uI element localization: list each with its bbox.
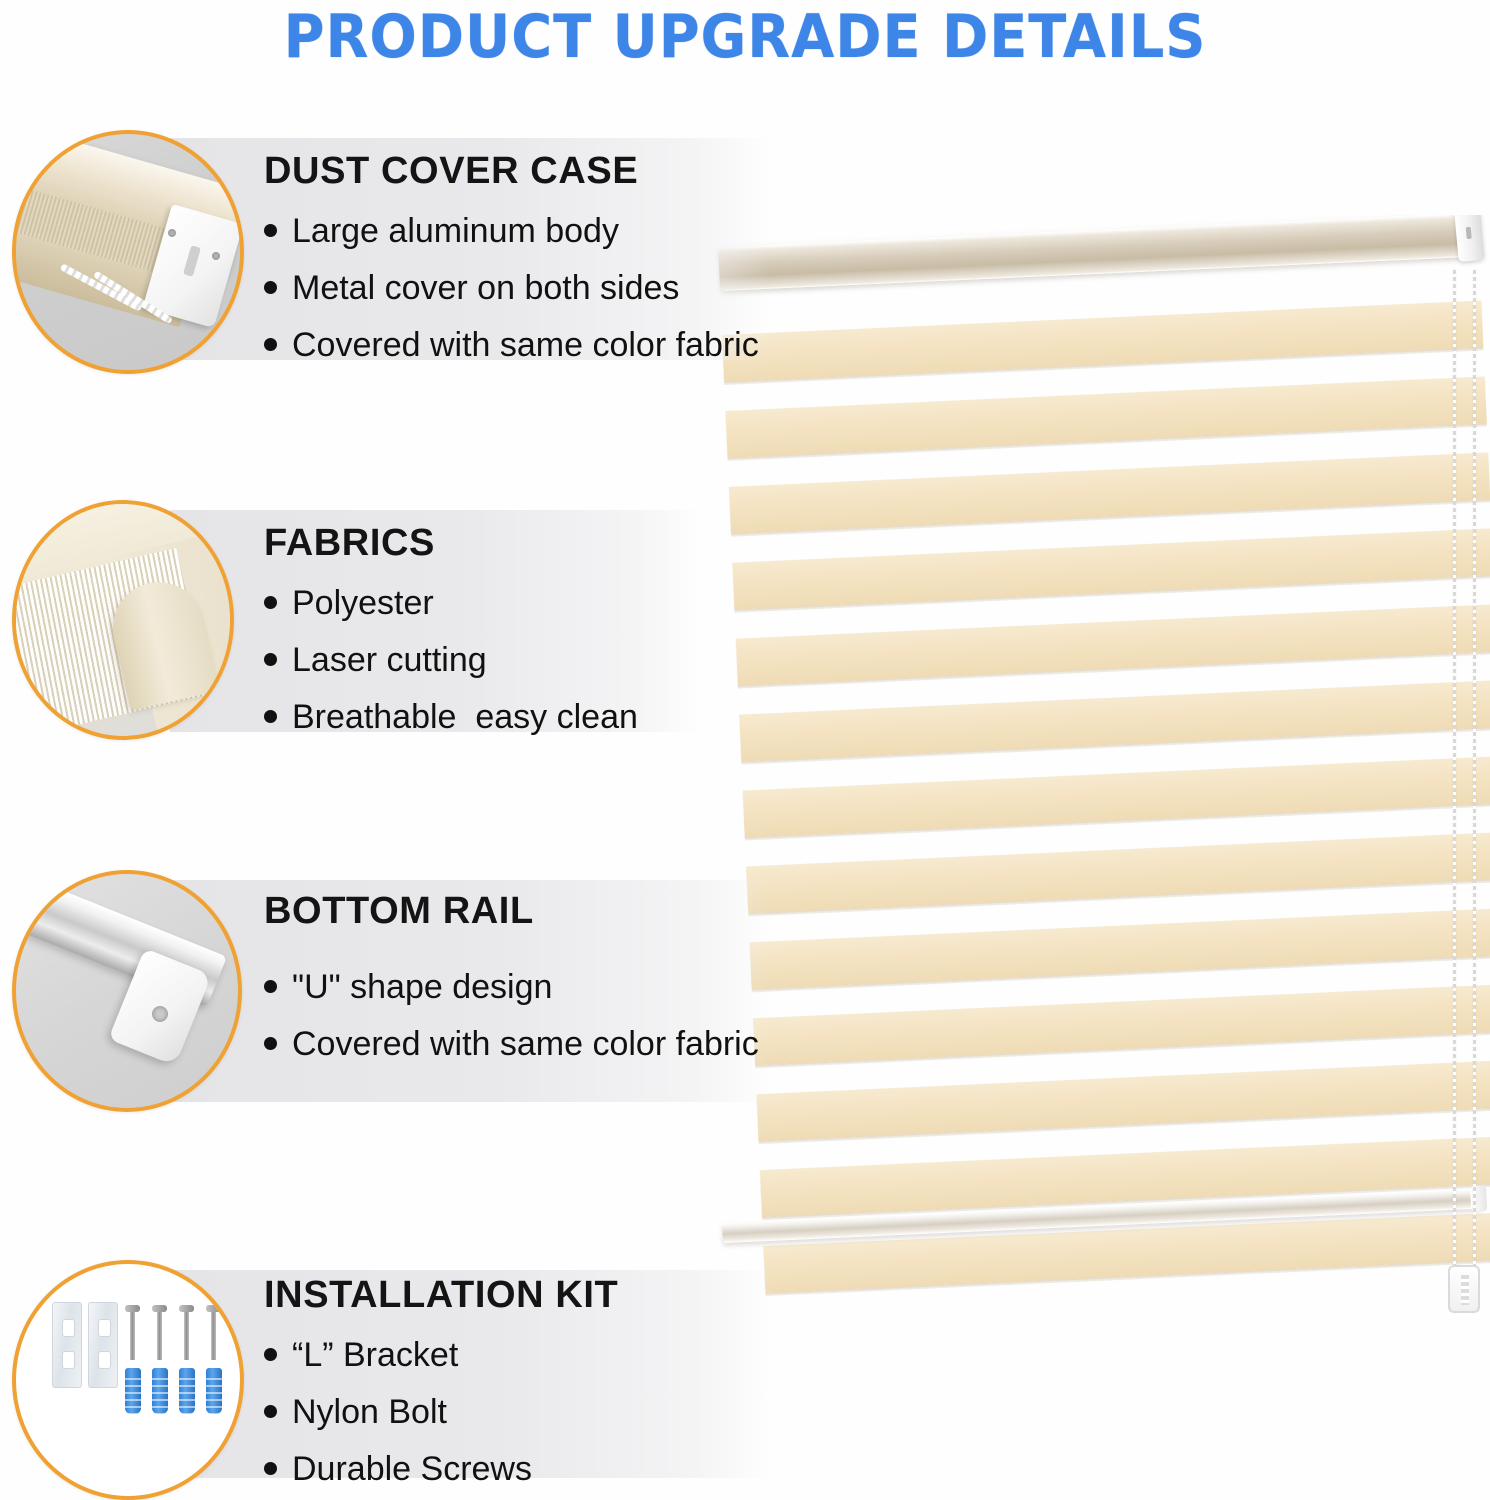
bead-chain-connector xyxy=(1448,1265,1480,1313)
blind-top-rail xyxy=(718,215,1479,291)
fabric-stripe xyxy=(756,1060,1490,1141)
feature-block-installation-kit: INSTALLATION KIT “L” Bracket Nylon Bolt … xyxy=(0,1258,790,1500)
blind-fabric-stripes xyxy=(722,301,1490,1335)
feature-bullet-list: Large aluminum body Metal cover on both … xyxy=(264,207,764,370)
fabric-stripe xyxy=(725,376,1486,457)
list-item: Polyester xyxy=(264,579,694,628)
bullet-icon xyxy=(264,1405,277,1418)
bullet-text: Large aluminum body xyxy=(292,207,619,256)
list-item: Durable Screws xyxy=(264,1445,764,1494)
bullet-text: “L” Bracket xyxy=(292,1331,458,1380)
feature-bullet-list: Polyester Laser cutting Breathable easy … xyxy=(264,579,694,742)
bullet-icon xyxy=(264,980,277,993)
fabric-stripe xyxy=(753,984,1490,1065)
bead-chain-left-strand xyxy=(1453,270,1456,1290)
list-item: "U" shape design xyxy=(264,963,764,1012)
wall-anchor-icon xyxy=(179,1368,195,1414)
bullet-icon xyxy=(264,596,277,609)
feature-title: INSTALLATION KIT xyxy=(264,1274,764,1317)
l-bracket-icon xyxy=(88,1302,118,1388)
bullet-icon xyxy=(264,224,277,237)
bullet-text: Metal cover on both sides xyxy=(292,264,679,313)
bullet-icon xyxy=(264,1348,277,1361)
feature-bullet-list: “L” Bracket Nylon Bolt Durable Screws xyxy=(264,1331,764,1494)
wall-anchor-icon xyxy=(152,1368,168,1414)
fabric-stripe xyxy=(722,301,1483,382)
l-bracket-icon xyxy=(52,1302,82,1388)
list-item: Laser cutting xyxy=(264,636,694,685)
installation-kit-photo xyxy=(12,1260,244,1500)
list-item: Covered with same color fabric xyxy=(264,321,764,370)
wall-anchor-icon xyxy=(125,1368,141,1414)
list-item: Metal cover on both sides xyxy=(264,264,764,313)
wall-anchor-icon xyxy=(206,1368,222,1414)
list-item: Covered with same color fabric xyxy=(264,1020,764,1069)
fabric-stripe xyxy=(750,908,1490,989)
fabric-stripe xyxy=(736,604,1490,685)
bullet-icon xyxy=(264,653,277,666)
bullet-text: Nylon Bolt xyxy=(292,1388,447,1437)
fabric-stripe xyxy=(739,680,1490,761)
bullet-icon xyxy=(264,1462,277,1475)
feature-block-fabrics: FABRICS Polyester Laser cutting Breathab… xyxy=(0,492,710,742)
bullet-text: Covered with same color fabric xyxy=(292,321,759,370)
page-title: PRODUCT UPGRADE DETAILS xyxy=(52,2,1438,72)
feature-block-dust-cover-case: DUST COVER CASE Large aluminum body Meta… xyxy=(0,120,790,370)
list-item: Nylon Bolt xyxy=(264,1388,764,1437)
fabrics-photo xyxy=(12,500,234,740)
bullet-icon xyxy=(264,281,277,294)
bullet-text: Breathable easy clean xyxy=(292,693,638,742)
dust-cover-case-photo xyxy=(12,130,244,374)
feature-block-bottom-rail: BOTTOM RAIL "U" shape design Covered wit… xyxy=(0,862,790,1112)
feature-bullet-list: "U" shape design Covered with same color… xyxy=(264,963,764,1069)
bullet-text: "U" shape design xyxy=(292,963,552,1012)
fabric-stripe xyxy=(729,452,1490,533)
screw-icon xyxy=(184,1310,189,1360)
bullet-text: Polyester xyxy=(292,579,434,628)
bottom-rail-photo xyxy=(12,870,242,1112)
bullet-text: Durable Screws xyxy=(292,1445,532,1494)
bullet-text: Covered with same color fabric xyxy=(292,1020,759,1069)
feature-title: FABRICS xyxy=(264,522,694,565)
feature-title: BOTTOM RAIL xyxy=(264,890,764,933)
screw-icon xyxy=(157,1310,162,1360)
list-item: “L” Bracket xyxy=(264,1331,764,1380)
bullet-icon xyxy=(264,710,277,723)
bead-chain-right-strand xyxy=(1473,270,1476,1280)
feature-title: DUST COVER CASE xyxy=(264,150,764,193)
fabric-stripe xyxy=(743,756,1490,837)
top-rail-end-cap xyxy=(1454,215,1485,262)
screw-icon xyxy=(211,1310,216,1360)
bullet-icon xyxy=(264,1037,277,1050)
screw-icon xyxy=(130,1310,135,1360)
list-item: Large aluminum body xyxy=(264,207,764,256)
product-image-zebra-blind xyxy=(700,215,1490,1335)
bullet-text: Laser cutting xyxy=(292,636,487,685)
infographic-canvas: PRODUCT UPGRADE DETAILS xyxy=(0,0,1490,1500)
list-item: Breathable easy clean xyxy=(264,693,694,742)
bullet-icon xyxy=(264,338,277,351)
fabric-stripe xyxy=(746,832,1490,913)
fabric-stripe xyxy=(732,528,1490,609)
